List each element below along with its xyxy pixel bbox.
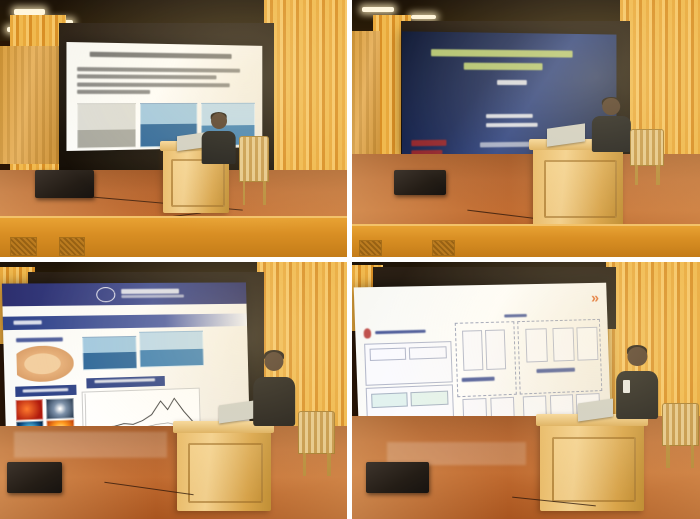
panel-label-text xyxy=(23,387,68,392)
diagram-column-header xyxy=(504,314,526,318)
slide-speaker-name xyxy=(497,80,527,85)
slide-thumb-2 xyxy=(46,398,74,419)
chair xyxy=(630,129,663,167)
screen-reflection xyxy=(14,432,167,458)
slide-footer-logo-1 xyxy=(411,140,447,147)
panel-label-text xyxy=(94,378,155,383)
slide-title-line-1 xyxy=(432,50,573,58)
speaker-head xyxy=(211,113,227,129)
stage-monitor-speaker xyxy=(7,462,63,493)
speaker-body xyxy=(201,131,236,165)
chair-leg xyxy=(327,453,330,476)
ceiling-light xyxy=(362,7,393,12)
presenter-head xyxy=(628,347,647,366)
chevron-right-icon: » xyxy=(591,290,598,307)
standing-presenter xyxy=(592,98,630,152)
slide-panel-label-right xyxy=(86,376,164,388)
apron-vent xyxy=(359,240,382,256)
ceiling-light xyxy=(14,9,45,15)
chair xyxy=(298,411,335,454)
chair-leg xyxy=(303,453,306,476)
chair-leg xyxy=(666,445,669,468)
slide-header-institution xyxy=(121,288,179,293)
handheld-microphone xyxy=(623,380,630,393)
chair-leg xyxy=(635,165,638,185)
chair xyxy=(662,403,699,446)
chair-leg xyxy=(691,445,694,468)
china-map-graphic xyxy=(16,344,73,381)
podium xyxy=(533,139,623,226)
slide-title-row xyxy=(363,326,467,340)
apron-vent xyxy=(59,237,85,257)
chair xyxy=(239,136,269,182)
slide-section-label xyxy=(13,319,41,324)
slide-thumb-1 xyxy=(15,399,43,420)
diagram-block xyxy=(552,327,575,362)
slide-header-institution-en xyxy=(121,295,184,299)
slide-logo-mark xyxy=(363,329,371,339)
podium xyxy=(177,421,271,511)
panel-bottom-right: » xyxy=(352,262,700,519)
side-wall xyxy=(0,46,59,164)
seated-speaker xyxy=(201,113,236,164)
podium-panel xyxy=(188,443,263,503)
ceiling-light xyxy=(411,15,435,19)
panel-bottom-left xyxy=(0,262,347,519)
stage-apron xyxy=(0,216,347,257)
diagram-block xyxy=(369,347,406,361)
podium xyxy=(540,414,644,512)
shandong-university-logo xyxy=(96,286,116,302)
photo-collage: » xyxy=(0,0,700,519)
slide-subsection-label xyxy=(16,336,62,341)
podium-panel xyxy=(171,159,225,208)
slide-photo-offshore-wind xyxy=(82,335,137,370)
chair-leg xyxy=(656,165,659,185)
slide-title-block xyxy=(425,50,596,71)
diagram-block xyxy=(409,346,448,360)
diagram-block xyxy=(525,328,548,363)
apron-vent xyxy=(432,240,455,256)
presenter-body xyxy=(592,116,630,152)
slide-photo-onshore-wind xyxy=(139,331,204,368)
presenter-body xyxy=(253,377,295,426)
stage-monitor-speaker xyxy=(394,170,446,196)
panel-top-left xyxy=(0,0,347,257)
apron-vent xyxy=(10,237,36,257)
slide-panel-label-left xyxy=(15,385,76,397)
diagram-block xyxy=(462,330,483,371)
podium-panel xyxy=(544,160,617,218)
diagram-block xyxy=(371,393,408,409)
slide-photo-1 xyxy=(77,103,136,149)
standing-presenter xyxy=(253,352,295,427)
presenter-head xyxy=(265,352,284,371)
slide-body-text xyxy=(77,66,253,97)
slide-section-strip xyxy=(3,313,248,329)
podium-panel xyxy=(552,437,635,502)
stage-monitor-speaker xyxy=(366,462,429,493)
diagram-block xyxy=(410,391,449,407)
stage-apron xyxy=(352,224,700,257)
panel-top-right xyxy=(352,0,700,257)
diagram-block xyxy=(485,329,506,370)
slide-title-text xyxy=(375,330,425,334)
stage-monitor-speaker xyxy=(35,170,94,198)
slide-title-line-2 xyxy=(464,63,543,71)
side-wall xyxy=(352,31,380,165)
slide-affiliation-2 xyxy=(486,123,537,127)
slide-title xyxy=(79,50,251,62)
presenter-body xyxy=(616,371,658,418)
diagram-block xyxy=(576,327,598,362)
slide-header-band xyxy=(2,282,247,306)
chair-leg xyxy=(243,181,246,205)
presenter-head xyxy=(602,98,620,116)
chair-leg xyxy=(263,181,266,205)
slide-affiliation-1 xyxy=(486,115,533,119)
